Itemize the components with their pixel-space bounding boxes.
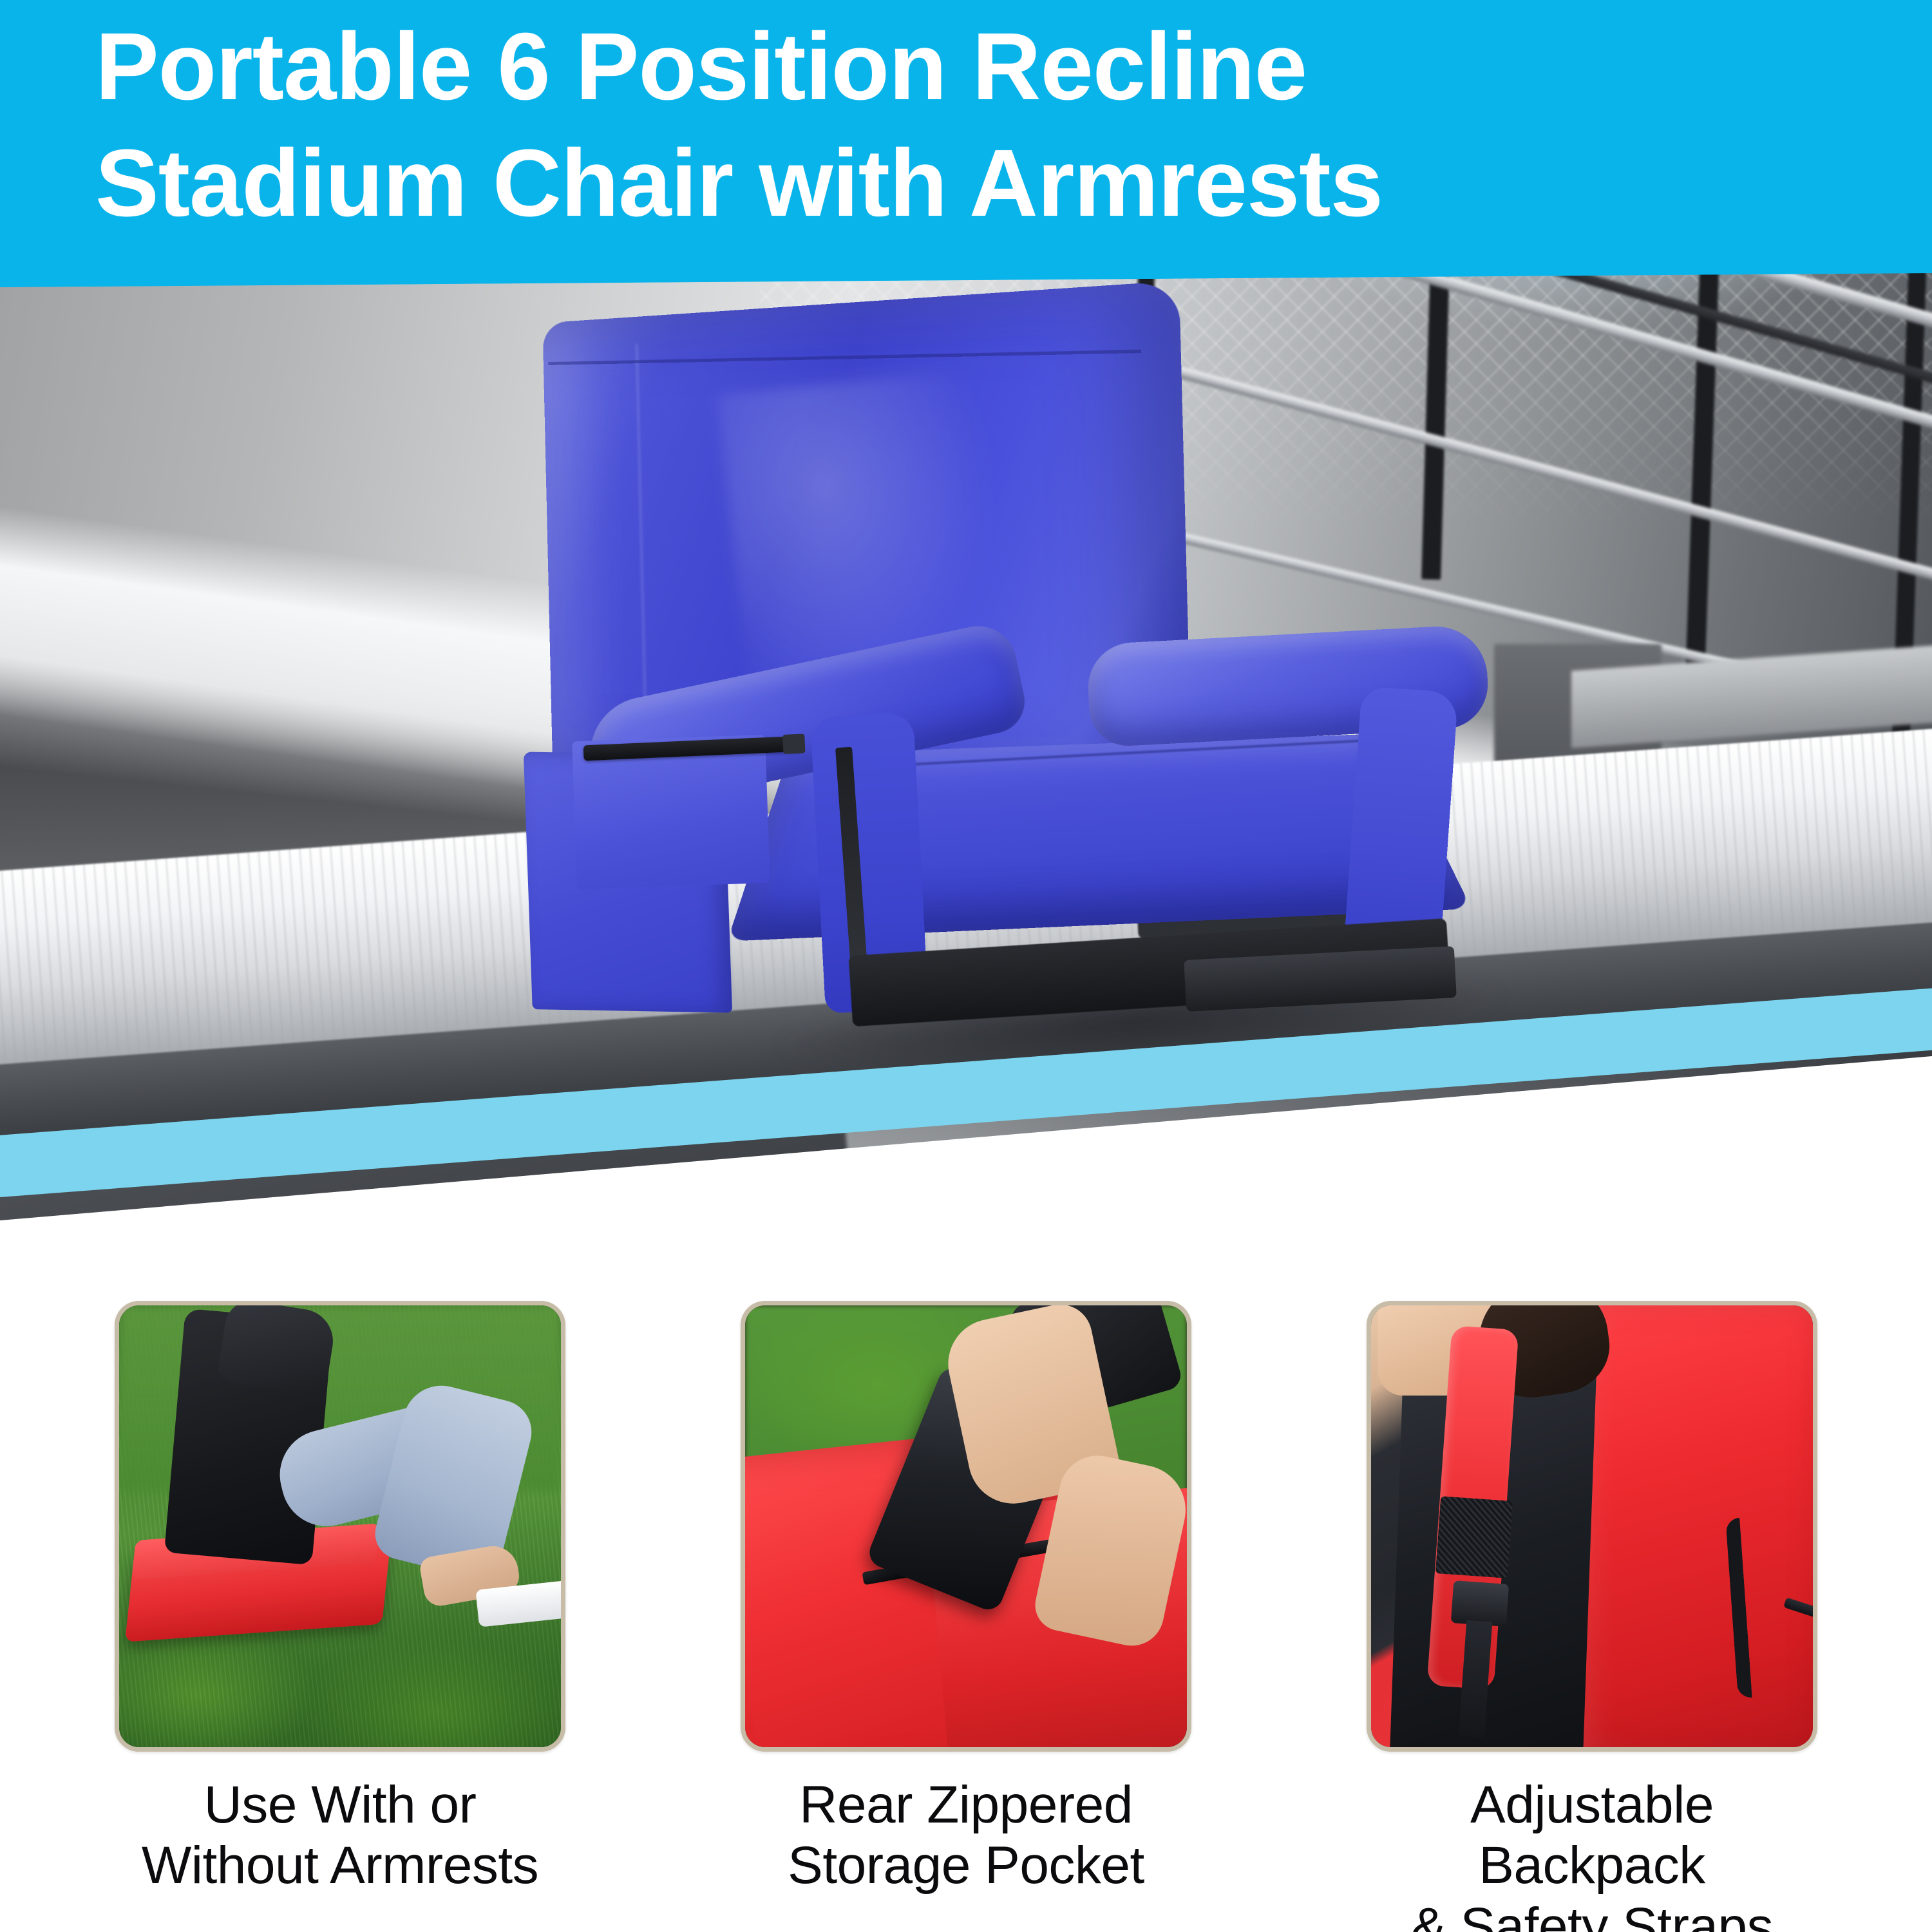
feature-caption-3: Adjustable Backpack & Safety Straps — [1367, 1775, 1817, 1932]
feature-caption-3-line-1: Adjustable Backpack — [1367, 1775, 1817, 1897]
feature-panel-use-with-or-without-armrests: Use With or Without Armrests — [115, 1301, 565, 1897]
page-title: Portable 6 Position Recline Stadium Chai… — [95, 9, 1834, 241]
person-hood — [216, 1301, 337, 1397]
page-title-line-1: Portable 6 Position Recline — [95, 14, 1307, 120]
feature-panel-row: Use With or Without Armrests Rear Zipper… — [0, 1288, 1932, 1932]
feature-thumbnail-1 — [115, 1301, 565, 1752]
page-title-line-2: Stadium Chair with Armrests — [95, 126, 1834, 242]
feature-thumbnail-2 — [741, 1301, 1191, 1752]
feature-caption-3-line-2: & Safety Straps — [1367, 1897, 1817, 1932]
product-infographic-page: Portable 6 Position Recline Stadium Chai… — [0, 0, 1932, 1932]
feature-caption-2-line-1: Rear Zippered — [741, 1775, 1191, 1835]
feature-caption-2: Rear Zippered Storage Pocket — [741, 1775, 1191, 1897]
strap-buckle-icon — [1451, 1580, 1509, 1627]
strap-mesh-padding — [1435, 1496, 1513, 1578]
feature-caption-1-line-1: Use With or — [115, 1775, 565, 1835]
feature-panel-rear-zippered-storage-pocket: Rear Zippered Storage Pocket — [741, 1301, 1191, 1897]
stadium-chair-product — [489, 303, 1494, 1063]
feature-caption-1: Use With or Without Armrests — [115, 1775, 565, 1897]
feature-caption-1-line-2: Without Armrests — [115, 1835, 565, 1896]
feature-panel-adjustable-backpack-safety-straps: Adjustable Backpack & Safety Straps — [1367, 1301, 1817, 1932]
feature-thumbnail-3 — [1367, 1301, 1817, 1752]
feature-caption-2-line-2: Storage Pocket — [741, 1835, 1191, 1896]
